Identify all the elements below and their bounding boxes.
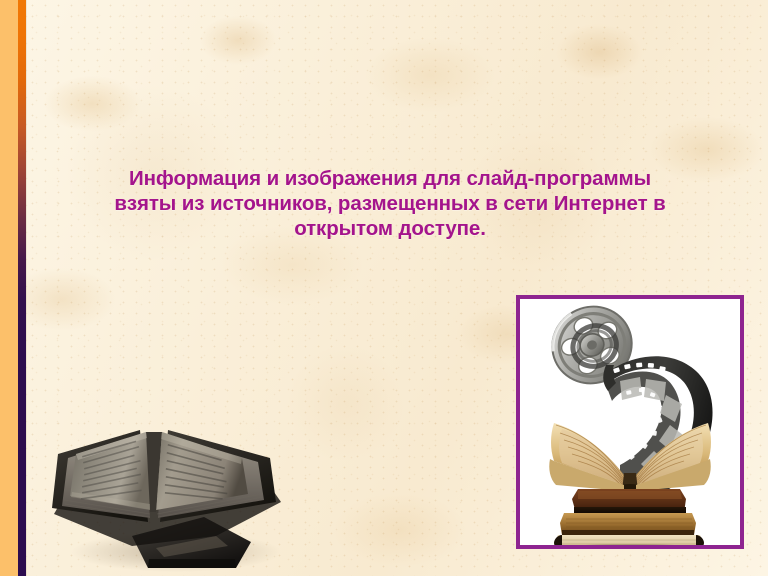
left-gradient-stripe — [18, 0, 26, 576]
page-title: Информация и изображения для слайд-прогр… — [104, 166, 676, 241]
picture-inner-canvas — [520, 299, 740, 545]
old-open-book-picture — [36, 396, 304, 574]
film-reel-and-books-picture — [516, 295, 744, 549]
left-hairline-divider — [26, 0, 27, 576]
left-orange-band — [0, 0, 18, 576]
presentation-slide: Информация и изображения для слайд-прогр… — [0, 0, 768, 576]
